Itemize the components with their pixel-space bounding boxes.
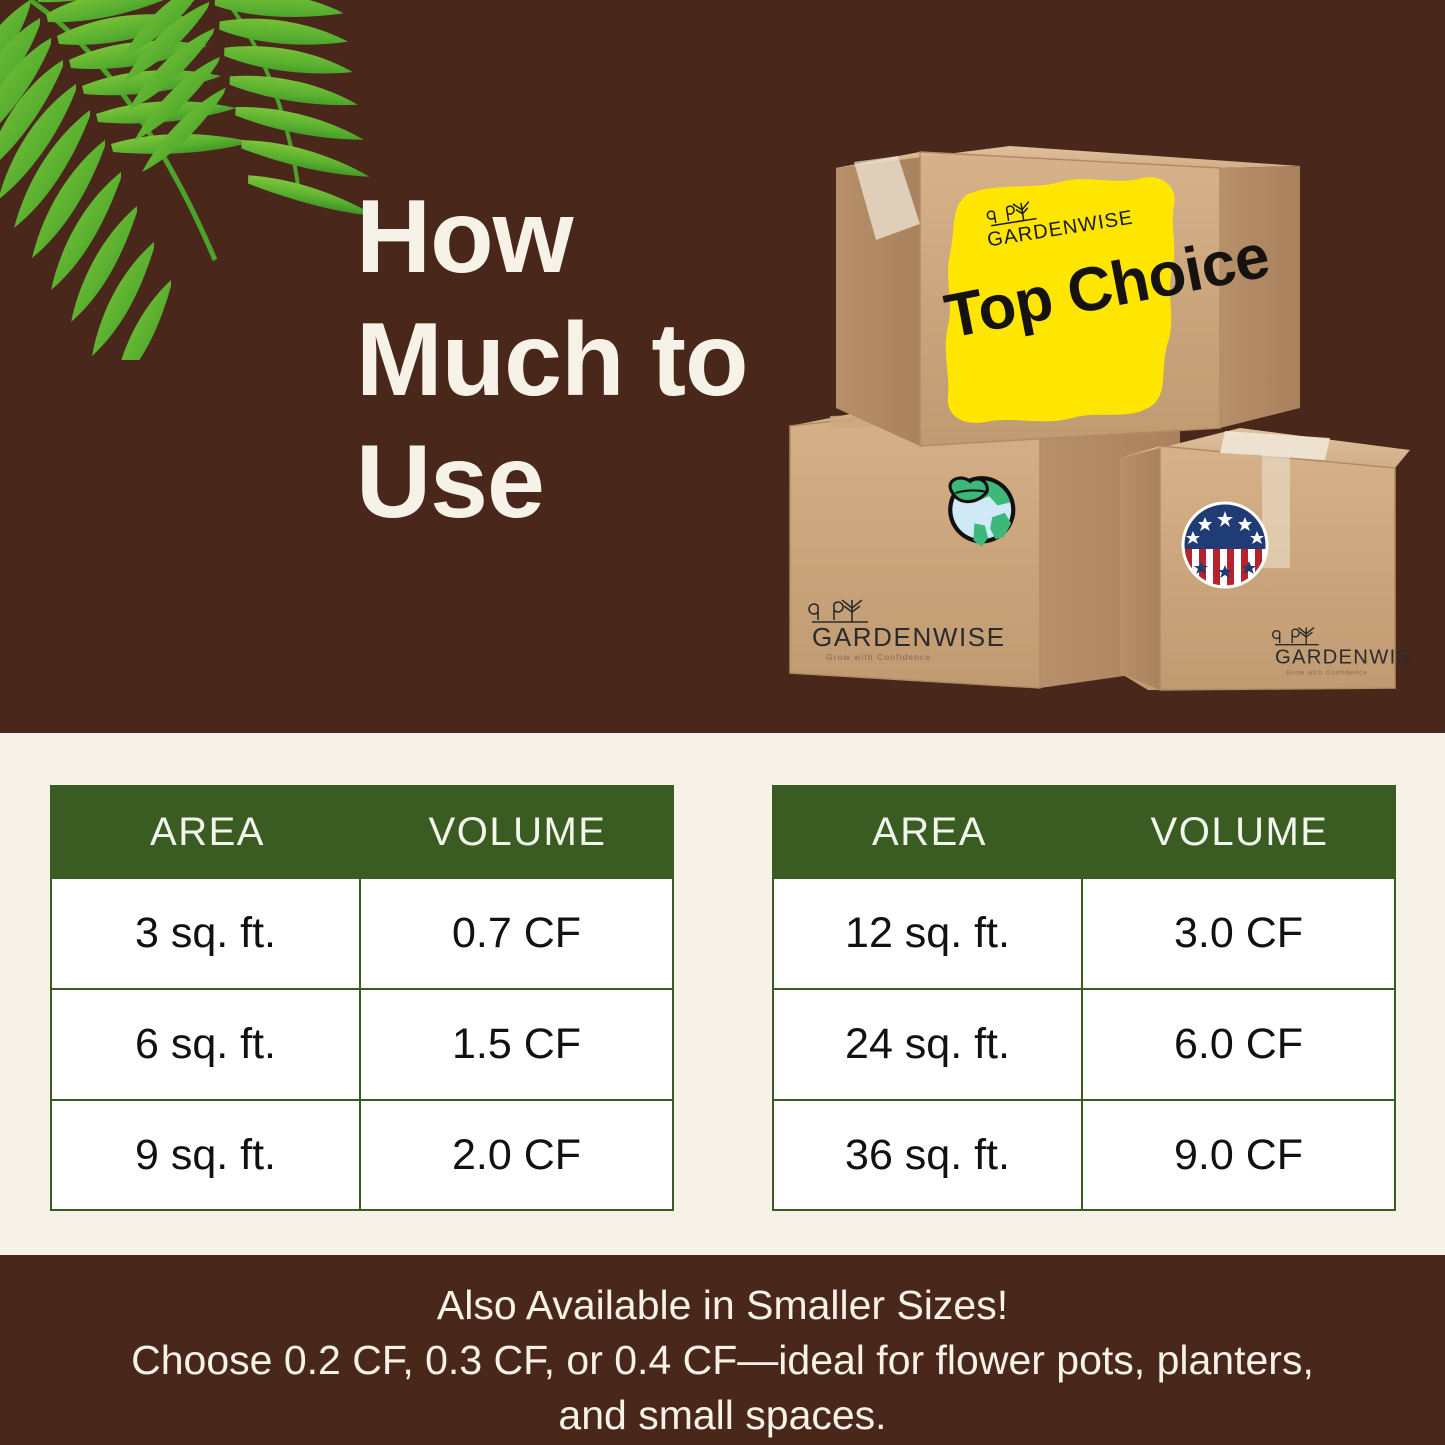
brand-name-middle: GARDENWISE bbox=[812, 622, 1006, 652]
cell-area: 24 sq. ft. bbox=[774, 990, 1083, 1099]
cell-volume: 3.0 CF bbox=[1083, 879, 1394, 988]
table-row: 9 sq. ft. 2.0 CF bbox=[52, 1099, 672, 1210]
cell-area: 6 sq. ft. bbox=[52, 990, 361, 1099]
box-right: GARDENWISE Grow with Confidence bbox=[1120, 428, 1410, 690]
page-title: How Much to Use bbox=[356, 176, 776, 544]
product-boxes-illustration: GARDENWISE Grow with Confidence bbox=[770, 128, 1410, 693]
cell-volume: 9.0 CF bbox=[1083, 1101, 1394, 1210]
table-header-row: AREA VOLUME bbox=[774, 787, 1394, 877]
cell-volume: 1.5 CF bbox=[361, 990, 672, 1099]
table-header-row: AREA VOLUME bbox=[52, 787, 672, 877]
cell-volume: 6.0 CF bbox=[1083, 990, 1394, 1099]
box-top: GARDENWISE Top Choice bbox=[836, 146, 1300, 446]
cell-area: 3 sq. ft. bbox=[52, 879, 361, 988]
table-row: 3 sq. ft. 0.7 CF bbox=[52, 877, 672, 988]
usa-flag-sticker bbox=[1183, 503, 1267, 587]
table-row: 12 sq. ft. 3.0 CF bbox=[774, 877, 1394, 988]
cell-volume: 2.0 CF bbox=[361, 1101, 672, 1210]
palm-leaf-decoration bbox=[0, 0, 400, 360]
table-row: 6 sq. ft. 1.5 CF bbox=[52, 988, 672, 1099]
cell-area: 36 sq. ft. bbox=[774, 1101, 1083, 1210]
column-header-area: AREA bbox=[52, 787, 363, 877]
cell-area: 12 sq. ft. bbox=[774, 879, 1083, 988]
brand-tagline-right: Grow with Confidence bbox=[1286, 669, 1368, 676]
brand-tagline-middle: Grow with Confidence bbox=[826, 652, 931, 662]
footer-line3: and small spaces. bbox=[0, 1388, 1445, 1443]
cell-volume: 0.7 CF bbox=[361, 879, 672, 988]
cell-area: 9 sq. ft. bbox=[52, 1101, 361, 1210]
table-row: 36 sq. ft. 9.0 CF bbox=[774, 1099, 1394, 1210]
table-small-areas: AREA VOLUME 3 sq. ft. 0.7 CF 6 sq. ft. 1… bbox=[50, 785, 674, 1211]
column-header-volume: VOLUME bbox=[363, 787, 672, 877]
brand-name-right: GARDENWISE bbox=[1275, 646, 1410, 668]
footer-line1: Also Available in Smaller Sizes! bbox=[0, 1278, 1445, 1333]
table-row: 24 sq. ft. 6.0 CF bbox=[774, 988, 1394, 1099]
infographic-page: How Much to Use bbox=[0, 0, 1445, 1445]
footer-note: Also Available in Smaller Sizes! Choose … bbox=[0, 1278, 1445, 1443]
table-large-areas: AREA VOLUME 12 sq. ft. 3.0 CF 24 sq. ft.… bbox=[772, 785, 1396, 1211]
page-title-line2: Much to bbox=[356, 299, 776, 422]
page-title-line1: How bbox=[356, 176, 776, 299]
column-header-area: AREA bbox=[774, 787, 1085, 877]
footer-line2: Choose 0.2 CF, 0.3 CF, or 0.4 CF—ideal f… bbox=[0, 1333, 1445, 1388]
column-header-volume: VOLUME bbox=[1085, 787, 1394, 877]
page-title-line3: Use bbox=[356, 421, 776, 544]
